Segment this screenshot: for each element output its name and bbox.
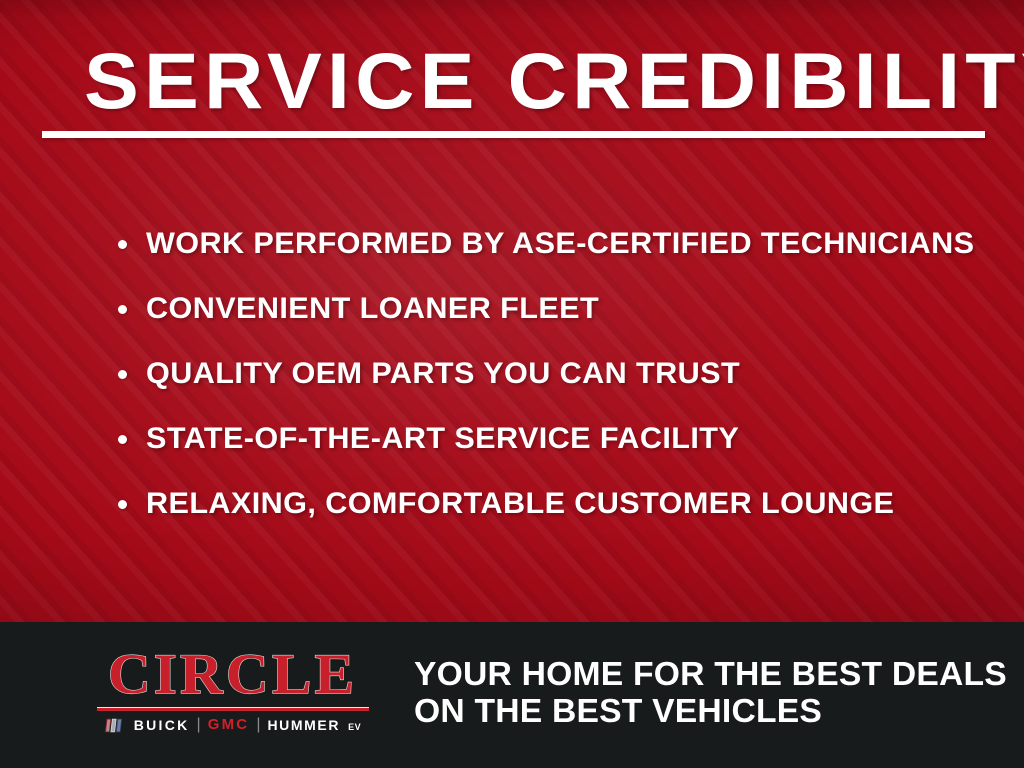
brand-separator: | (197, 717, 201, 733)
bullet-text: STATE-OF-THE-ART SERVICE FACILITY (146, 419, 739, 459)
buick-trishield-icon (104, 718, 125, 733)
bullet-text: WORK PERFORMED BY ASE-CERTIFIED TECHNICI… (146, 224, 974, 264)
bullet-text: RELAXING, COMFORTABLE CUSTOMER LOUNGE (146, 484, 894, 524)
brand-label-buick: BUICK (134, 717, 190, 733)
dealer-logo: CIRCLE BUICK | GMC | HUMME (90, 646, 375, 733)
tagline-line-2: ON THE BEST VEHICLES (414, 692, 1007, 729)
presentation-slide: SERVICE CREDIBILITY WORK PERFORMED BY AS… (0, 0, 1024, 768)
title-underline-rule (42, 131, 985, 138)
bullet-list: WORK PERFORMED BY ASE-CERTIFIED TECHNICI… (118, 224, 998, 549)
slide-body: SERVICE CREDIBILITY WORK PERFORMED BY AS… (0, 0, 1024, 622)
dealer-logo-rule (97, 707, 369, 711)
bullet-dot-icon (118, 370, 127, 379)
bullet-text: QUALITY OEM PARTS YOU CAN TRUST (146, 354, 740, 394)
bullet-dot-icon (118, 305, 127, 314)
list-item: STATE-OF-THE-ART SERVICE FACILITY (118, 419, 998, 484)
slide-title: SERVICE CREDIBILITY (84, 38, 1024, 124)
bullet-dot-icon (118, 500, 127, 509)
bullet-dot-icon (118, 240, 127, 249)
brand-label-gmc: GMC (208, 717, 250, 733)
bullet-dot-icon (118, 435, 127, 444)
brand-label-hummer: HUMMER (267, 717, 340, 733)
list-item: WORK PERFORMED BY ASE-CERTIFIED TECHNICI… (118, 224, 998, 289)
brand-label-ev: EV (348, 719, 361, 735)
list-item: QUALITY OEM PARTS YOU CAN TRUST (118, 354, 998, 419)
list-item: RELAXING, COMFORTABLE CUSTOMER LOUNGE (118, 484, 998, 549)
bullet-text: CONVENIENT LOANER FLEET (146, 289, 599, 329)
list-item: CONVENIENT LOANER FLEET (118, 289, 998, 354)
tagline-line-1: YOUR HOME FOR THE BEST DEALS (414, 655, 1007, 692)
brand-strip: BUICK | GMC | HUMMER EV (90, 717, 375, 733)
footer-tagline: YOUR HOME FOR THE BEST DEALS ON THE BEST… (414, 655, 1007, 729)
dealer-logo-wordmark: CIRCLE (84, 646, 380, 703)
brand-separator: | (256, 717, 260, 733)
